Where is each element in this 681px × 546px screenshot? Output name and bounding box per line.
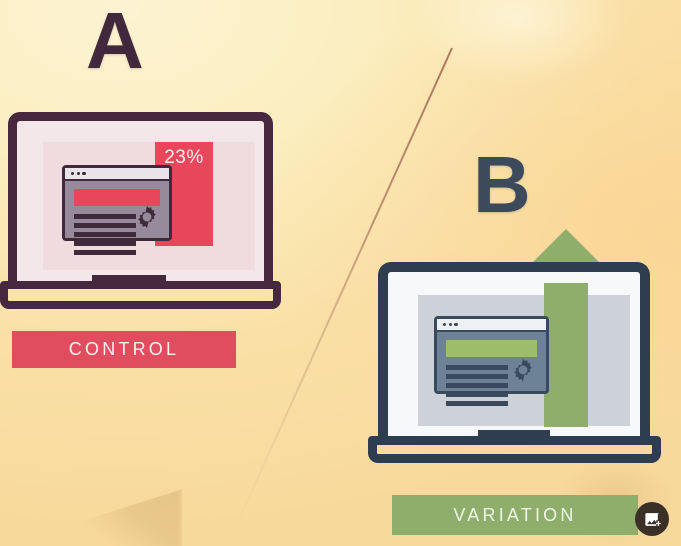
variant-b-letter: B [473,145,530,225]
variant-a-browser-text-lines [74,214,136,255]
variant-a-browser-mockup [62,165,172,241]
add-image-button[interactable] [635,502,669,536]
variant-a-browser-titlebar [65,168,169,181]
ab-test-illustration: A 23% CONTROL B [0,0,681,546]
window-dot-icon [454,323,457,326]
variant-a-laptop-base [0,281,281,309]
variant-b-browser-mockup [434,316,549,394]
variant-b-label-banner: VARIATION [392,495,638,535]
gear-icon [134,204,160,230]
variant-b-laptop-base [368,436,661,463]
window-dot-icon [77,172,80,175]
variant-a-letter: A [86,1,143,81]
variant-b-browser-body [437,332,546,391]
add-image-icon [643,510,662,529]
window-dot-icon [449,323,452,326]
variant-a-label-banner: CONTROL [12,331,236,368]
window-dot-icon [82,172,85,175]
variant-b-browser-hero-banner [446,340,537,357]
variant-b-browser-text-lines [446,365,508,406]
gear-icon [510,357,536,383]
background-highlight-glow [375,0,661,109]
variant-b-browser-titlebar [437,319,546,332]
window-dot-icon [71,172,74,175]
variant-a-browser-body [65,181,169,238]
window-dot-icon [443,323,446,326]
